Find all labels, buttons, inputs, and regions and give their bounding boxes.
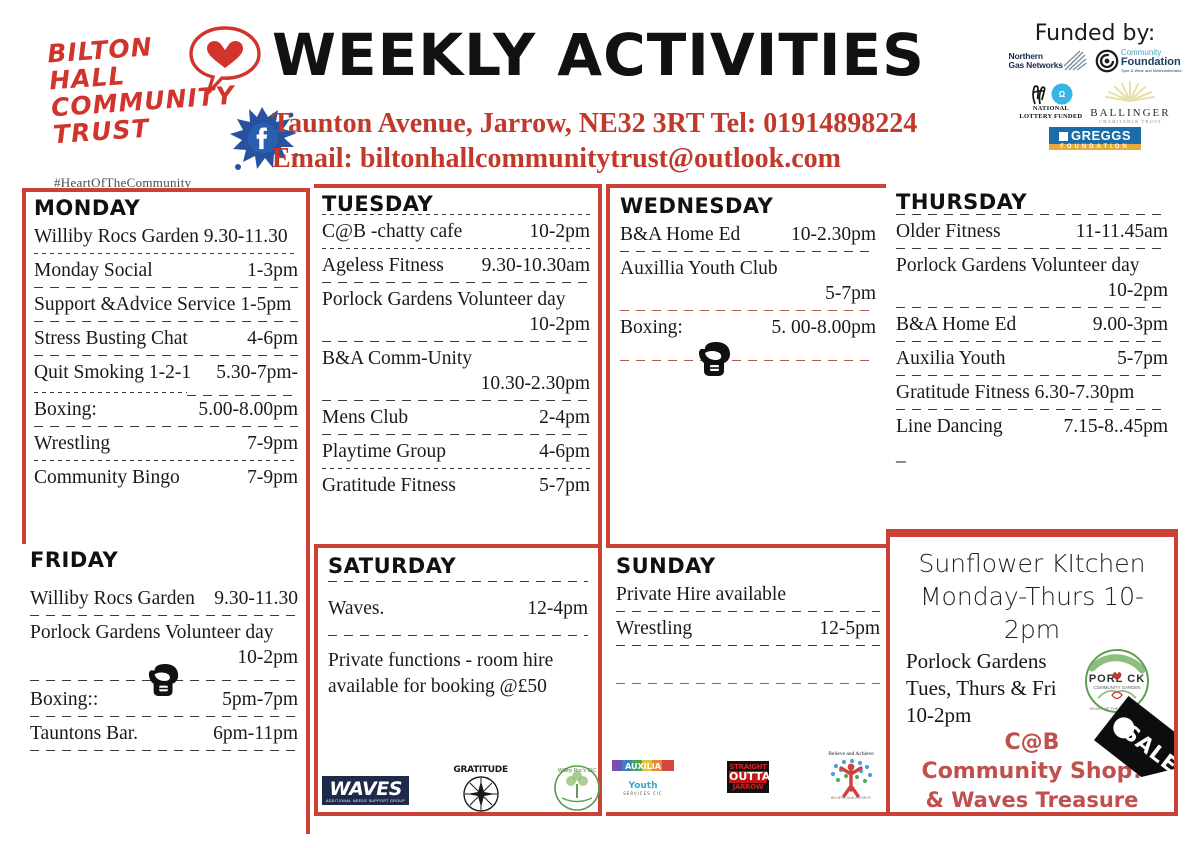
funder-ballinger: BALLINGER CHARITABLE TRUST [1090,78,1170,125]
svg-text:Williby Roc's CIC: Williby Roc's CIC [558,768,597,774]
day-title-wednesday: WEDNESDAY [620,194,876,218]
day-title-friday: FRIDAY [30,548,298,572]
community-foundation-swirl-icon [1095,49,1119,73]
funder-northern-gas-networks: Northern Gas Networks [1009,50,1087,72]
gratitude-logo: GRATITUDE [453,765,507,817]
straight-outta-logo: STRAIGHT OUTTA JARROW [727,761,769,793]
row-divider [34,355,298,356]
svg-text:Believe and Achieve: Believe and Achieve [828,751,874,757]
activity-row: Wrestling12-5pm [616,614,880,642]
row-divider [34,287,298,288]
sunflower-kitchen-panel: Sunflower KItchen Monday-Thurs 10-2pm Po… [886,533,1178,816]
day-panel-tuesday: TUESDAY C@B -chatty cafe10-2pm Ageless F… [314,184,602,548]
activity-row: Auxillia Youth Club5-7pm [620,254,876,307]
auxilia-rainbow-icon: AUXILIA [612,757,674,777]
row-divider [322,248,590,249]
activity-row: Boxing:5. 00-8.00pm [620,313,876,341]
email-line: Email: biltonhallcommunitytrust@outlook.… [272,141,841,176]
activity-row: Gratitude Fitness 6.30-7.30pm [896,378,1168,406]
activity-row: Playtime Group4-6pm [322,437,590,465]
activity-list-thursday: Older Fitness11-11.45am Porlock Gardens … [896,217,1168,468]
day-title-sunday: SUNDAY [616,554,880,578]
row-divider [30,615,298,616]
row-divider [322,341,590,342]
porlock-gardens-info: Porlock Gardens Tues, Thurs & Fri 10-2pm [906,648,1057,729]
porlock-line-3: 10-2pm [906,702,1057,729]
row-divider [34,253,298,254]
believe-achieve-icon: Believe and Achieve BELIEVE AND ACHIEVE [822,748,880,800]
activity-list-friday: Williby Rocs Garden9.30-11.30 Porlock Ga… [30,584,298,751]
activity-row: Older Fitness11-11.45am [896,217,1168,245]
funder-row-2: Ω NATIONAL LOTTERY FUNDED [1000,78,1190,125]
gas-rays-icon [1063,50,1087,72]
sunburst-icon [1104,78,1156,102]
greggs-foundation-sub: FOUNDATION [1049,144,1141,150]
svg-text:BELIEVE AND ACHIEVE: BELIEVE AND ACHIEVE [831,796,872,800]
row-divider [322,282,590,283]
activity-list-sunday: Private Hire available Wrestling12-5pm [616,580,880,684]
williby-rocs-circle-icon: Williby Roc's CIC [552,764,602,812]
activity-list-tuesday: C@B -chatty cafe10-2pm Ageless Fitness9.… [322,217,590,499]
day-title-monday: MONDAY [34,196,298,220]
sale-tag-icon: SALE [1086,685,1178,795]
page-title: WEEKLY ACTIVITIES [272,24,925,86]
activity-row: Private functions - room hire available … [328,648,588,700]
funder-row-1: Northern Gas Networks [1000,49,1190,73]
crossed-fingers-icon [1029,83,1049,105]
activity-row: Private Hire available [616,580,880,608]
activity-row: B&A Comm-Unity10.30-2.30pm [322,344,590,397]
activity-row: Boxing:5.00-8.00pm [34,395,298,423]
activity-row: Williby Rocs Garden 9.30-11.30 [34,222,298,250]
row-divider [30,750,298,751]
activity-row: Monday Social1-3pm [34,256,298,284]
ngn-line-2: Gas Networks [1009,61,1063,71]
activity-list-monday: Williby Rocs Garden 9.30-11.30 Monday So… [34,222,298,491]
lottery-ball-icon: Ω [1051,83,1073,105]
activity-row: Quit Smoking 1-2-15.30-7pm- [34,358,298,386]
greggs-square-icon [1059,132,1068,141]
poster-header: BILTON HALL COMMUNITY TRUST #HeartOfTheC… [0,0,1200,185]
activity-row: Wrestling7-9pm [34,429,298,457]
activity-row: Williby Rocs Garden9.30-11.30 [30,584,298,612]
activity-row: Waves.12-4pm [328,594,588,622]
activity-row: Line Dancing7.15-8..45pm [896,412,1168,440]
activity-row: C@B -chatty cafe10-2pm [322,217,590,245]
boxing-glove-icon [696,341,734,377]
funder-greggs: GREGGS FOUNDATION [1049,127,1141,150]
row-divider [187,395,298,396]
lottery-line-2: LOTTERY FUNDED [1019,113,1082,121]
sunflower-title: Sunflower KItchen [902,547,1162,580]
row-divider [620,310,876,311]
day-panel-wednesday: WEDNESDAY B&A Home Ed10-2.30pm Auxillia … [606,184,890,548]
row-divider [328,581,588,582]
row-divider [30,716,298,717]
day-title-tuesday: TUESDAY [322,192,590,216]
row-divider [896,214,1168,215]
porlock-line-2: Tues, Thurs & Fri [906,675,1057,702]
greggs-name: GREGGS [1049,127,1141,144]
saturday-partner-logos: WAVES ADDITIONAL NEEDS SUPPORT GROUP GRA… [322,764,602,817]
day-panel-saturday: SATURDAY Waves.12-4pm Private functions … [314,544,602,816]
activity-row: B&A Home Ed9.00-3pm [896,310,1168,338]
porlock-line-1: Porlock Gardens [906,648,1057,675]
compass-star-icon [460,775,502,813]
row-divider [896,307,1168,308]
boxing-glove-icon [146,663,182,697]
activity-row: Support &Advice Service 1-5pm [34,290,298,318]
row-divider [620,360,876,361]
believe-and-achieve-logo: Believe and Achieve BELIEVE AND ACHIEVE [822,748,880,805]
day-title-saturday: SATURDAY [328,554,588,578]
williby-rocs-logo: Williby Roc's CIC [552,764,602,817]
cf-line-2: Foundation [1121,57,1182,68]
activity-row: Porlock Gardens Volunteer day10-2pm [896,251,1168,304]
day-panel-friday: FRIDAY Williby Rocs Garden9.30-11.30 Por… [22,544,310,834]
row-divider [328,635,588,636]
weekly-activities-poster: BILTON HALL COMMUNITY TRUST #HeartOfTheC… [0,0,1200,848]
activity-list-wednesday: B&A Home Ed10-2.30pm Auxillia Youth Club… [620,220,876,377]
organisation-logo: BILTON HALL COMMUNITY TRUST #HeartOfTheC… [40,18,290,183]
row-divider [896,248,1168,249]
row-divider [34,321,298,322]
ballinger-name: BALLINGER [1090,107,1170,119]
row-divider [896,341,1168,342]
row-divider [620,251,876,252]
row-divider [34,392,187,393]
svg-text:Ω: Ω [1059,90,1066,99]
sunflower-hours: Monday-Thurs 10-2pm [902,580,1162,646]
funder-national-lottery: Ω NATIONAL LOTTERY FUNDED [1019,83,1082,120]
activity-row: Porlock Gardens Volunteer day10-2pm [322,285,590,338]
row-divider [616,645,880,646]
svg-text:AUXILIA: AUXILIA [625,762,662,771]
heart-speech-bubble-icon [185,23,265,103]
day-title-thursday: THURSDAY [896,190,1168,214]
funders-block: Funded by: Northern Gas Networks [1000,22,1190,184]
activity-row: Community Bingo7-9pm [34,463,298,491]
row-divider [34,426,298,427]
row-divider [322,434,590,435]
day-panel-monday: MONDAY Williby Rocs Garden 9.30-11.30 Mo… [22,188,310,548]
lottery-line-1: NATIONAL [1019,105,1082,113]
activity-row: Ageless Fitness9.30-10.30am [322,251,590,279]
row-divider [616,683,880,684]
cf-sub: Tyne & Wear and Northumberland [1121,68,1182,73]
row-divider [34,460,298,461]
activity-row: _ [896,440,1168,468]
ballinger-sub: CHARITABLE TRUST [1090,119,1170,125]
activity-row: Auxilia Youth5-7pm [896,344,1168,372]
activity-list-saturday: Waves.12-4pm Private functions - room hi… [328,584,588,700]
day-panel-thursday: THURSDAY Older Fitness11-11.45am Porlock… [886,184,1178,533]
sunday-partner-logos: AUXILIA Youth SERVICES CIC STRAIGHT OUTT… [612,748,880,805]
activity-row: Mens Club2-4pm [322,403,590,431]
address-line: Taunton Avenue, Jarrow, NE32 3RT Tel: 01… [272,106,917,141]
row-divider [616,611,880,612]
row-divider [322,468,590,469]
row-divider [896,375,1168,376]
funded-by-label: Funded by: [1000,22,1190,46]
activity-row: B&A Home Ed10-2.30pm [620,220,876,248]
activity-row: Stress Busting Chat4-6pm [34,324,298,352]
row-divider [896,409,1168,410]
funder-community-foundation: Community Foundation Tyne & Wear and Nor… [1095,49,1182,73]
auxilia-youth-logo: AUXILIA Youth SERVICES CIC [612,757,674,796]
row-divider [322,400,590,401]
waves-logo: WAVES ADDITIONAL NEEDS SUPPORT GROUP [322,776,409,805]
activity-row: Gratitude Fitness5-7pm [322,471,590,499]
activity-row: Tauntons Bar.6pm-11pm [30,719,298,747]
day-panel-sunday: SUNDAY Private Hire available Wrestling1… [606,544,890,816]
